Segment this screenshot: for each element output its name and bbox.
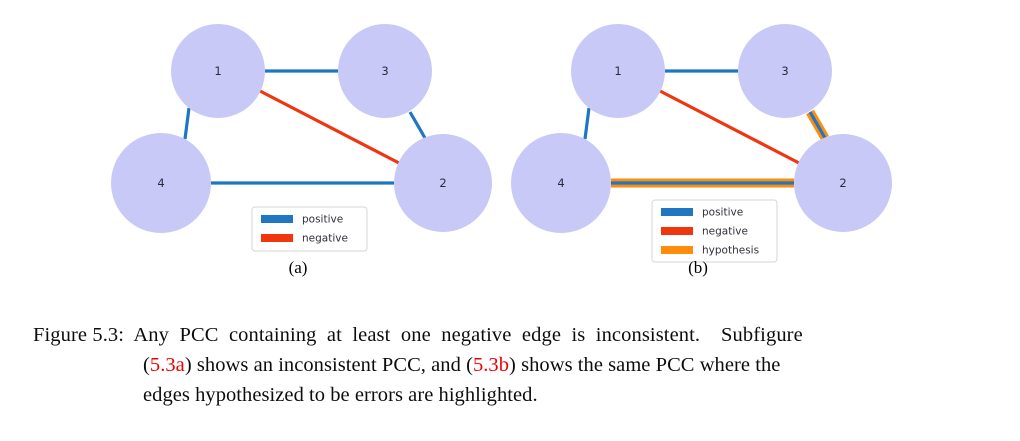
node-label-2: 2	[839, 176, 846, 190]
caption-line-2-middle: ) shows an inconsistent PCC, and (	[185, 354, 473, 376]
node-label-1: 1	[214, 64, 221, 78]
node-label-4: 4	[157, 176, 164, 190]
caption-line-2: (5.3a) shows an inconsistent PCC, and (5…	[0, 350, 1020, 380]
legend-a-swatch-positive	[261, 215, 293, 223]
node-label-3: 3	[781, 64, 788, 78]
figure-ref-5-3b[interactable]: 5.3b	[473, 354, 509, 376]
legend-b-swatch-negative	[661, 227, 693, 235]
legend-a-label-positive: positive	[302, 214, 343, 226]
legend-a: positive negative	[252, 207, 367, 251]
edge-3-2	[810, 112, 825, 138]
legend-b-label-positive: positive	[702, 207, 743, 219]
pcc-graph-b: 1 3 4 2 positive negative hypothesis	[400, 0, 900, 265]
caption-line-2-tail: ) shows the same PCC where the	[509, 354, 780, 376]
edge-1-4	[585, 108, 589, 139]
legend-b-label-hypothesis: hypothesis	[702, 245, 759, 257]
legend-b: positive negative hypothesis	[652, 200, 777, 262]
legend-b-label-negative: negative	[702, 226, 748, 238]
caption-line-1: Figure 5.3: Any PCC containing at least …	[0, 320, 1020, 350]
node-label-1: 1	[614, 64, 621, 78]
legend-b-swatch-positive	[661, 208, 693, 216]
caption-paren-open: (	[143, 354, 150, 376]
edge-1-4	[185, 108, 189, 139]
subfigure-b: 1 3 4 2 positive negative hypothesis (b)	[400, 0, 900, 300]
legend-a-label-negative: negative	[302, 233, 348, 245]
legend-b-swatch-hypothesis	[661, 246, 693, 254]
figure-caption: Figure 5.3: Any PCC containing at least …	[0, 302, 1020, 441]
node-label-4: 4	[557, 176, 564, 190]
figure-ref-5-3a[interactable]: 5.3a	[150, 354, 185, 376]
legend-a-swatch-negative	[261, 234, 293, 242]
subfigure-b-label: (b)	[400, 258, 900, 278]
figure-graphics-area: 1 3 4 2 positive negative (a)	[0, 0, 1020, 300]
node-label-3: 3	[381, 64, 388, 78]
caption-line-3: edges hypothesized to be errors are high…	[0, 380, 1020, 410]
